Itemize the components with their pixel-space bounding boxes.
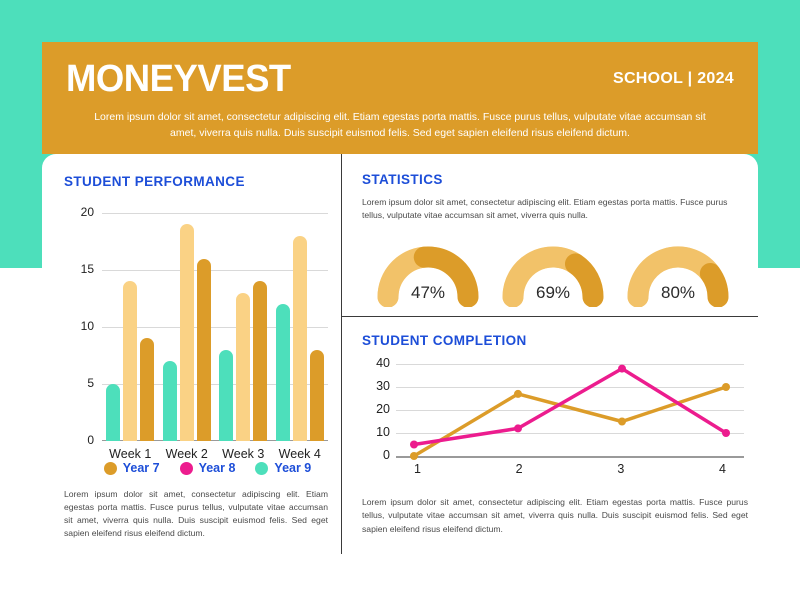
statistics-description: Lorem ipsum dolor sit amet, consectetur … bbox=[362, 196, 748, 223]
bar-group bbox=[106, 213, 154, 441]
bar-y-tick: 5 bbox=[87, 376, 94, 390]
gauge-percent-label: 47% bbox=[370, 283, 486, 303]
header-row: MONEYVEST SCHOOL | 2024 bbox=[66, 56, 734, 102]
bar-chart-y-axis: 05101520 bbox=[64, 213, 94, 441]
bar-x-tick: Week 2 bbox=[166, 447, 208, 461]
line-y-tick: 40 bbox=[376, 356, 390, 370]
line-x-tick: 4 bbox=[719, 462, 726, 476]
line-chart-svg bbox=[396, 364, 744, 456]
bar-group bbox=[219, 213, 267, 441]
legend-label: Year 7 bbox=[123, 461, 160, 475]
bar-chart: 05101520 Week 1Week 2Week 3Week 4 bbox=[64, 205, 332, 455]
bar-group bbox=[276, 213, 324, 441]
bar-groups bbox=[102, 213, 328, 441]
legend-item[interactable]: Year 7 bbox=[104, 461, 160, 475]
bar-chart-x-axis: Week 1Week 2Week 3Week 4 bbox=[102, 447, 328, 461]
line-x-tick: 3 bbox=[617, 462, 624, 476]
bar bbox=[310, 350, 324, 441]
line-chart-x-axis: 1234 bbox=[396, 462, 744, 476]
bar bbox=[180, 224, 194, 441]
line-gridline bbox=[396, 456, 744, 458]
gauge-group: 47%69%80% bbox=[362, 235, 740, 307]
student-completion-description: Lorem ipsum dolor sit amet, consectetur … bbox=[362, 496, 748, 536]
gauge: 47% bbox=[370, 235, 486, 307]
bar bbox=[163, 361, 177, 441]
line-chart-y-axis: 010203040 bbox=[362, 364, 390, 456]
bar bbox=[236, 293, 250, 441]
line-data-point bbox=[618, 418, 626, 426]
legend-label: Year 8 bbox=[199, 461, 236, 475]
bar-x-tick: Week 3 bbox=[222, 447, 264, 461]
student-completion-panel: STUDENT COMPLETION 010203040 1234 Lorem … bbox=[342, 317, 758, 554]
bar-y-tick: 20 bbox=[81, 205, 94, 219]
line-y-tick: 20 bbox=[376, 402, 390, 416]
legend-item[interactable]: Year 9 bbox=[255, 461, 311, 475]
student-performance-description: Lorem ipsum dolor sit amet, consectetur … bbox=[64, 488, 328, 540]
line-data-point bbox=[722, 383, 730, 391]
legend-dot-icon bbox=[255, 462, 268, 475]
line-data-point bbox=[410, 452, 418, 460]
brand-title: MONEYVEST bbox=[66, 60, 291, 98]
gauge-percent-label: 69% bbox=[495, 283, 611, 303]
line-data-point bbox=[514, 424, 522, 432]
bar-x-tick: Week 4 bbox=[279, 447, 321, 461]
line-y-tick: 0 bbox=[383, 448, 390, 462]
bar bbox=[197, 259, 211, 441]
bar-group bbox=[163, 213, 211, 441]
bar-x-tick: Week 1 bbox=[109, 447, 151, 461]
bar bbox=[140, 338, 154, 441]
student-performance-panel: STUDENT PERFORMANCE 05101520 Week 1Week … bbox=[42, 154, 341, 566]
gauge: 80% bbox=[620, 235, 736, 307]
legend-label: Year 9 bbox=[274, 461, 311, 475]
bar bbox=[219, 350, 233, 441]
line-chart-plot bbox=[396, 364, 744, 456]
page-header: MONEYVEST SCHOOL | 2024 Lorem ipsum dolo… bbox=[42, 42, 758, 154]
student-performance-title: STUDENT PERFORMANCE bbox=[64, 174, 341, 189]
line-y-tick: 10 bbox=[376, 425, 390, 439]
gauge-percent-label: 80% bbox=[620, 283, 736, 303]
teal-left-strip bbox=[0, 0, 42, 268]
bar-y-tick: 10 bbox=[81, 319, 94, 333]
bar-chart-legend: Year 7Year 8Year 9 bbox=[64, 461, 341, 475]
legend-dot-icon bbox=[180, 462, 193, 475]
line-data-point bbox=[618, 365, 626, 373]
bar-y-tick: 15 bbox=[81, 262, 94, 276]
line-x-tick: 2 bbox=[516, 462, 523, 476]
statistics-title: STATISTICS bbox=[362, 172, 740, 187]
bar bbox=[276, 304, 290, 441]
bar bbox=[106, 384, 120, 441]
bar bbox=[253, 281, 267, 441]
statistics-panel: STATISTICS Lorem ipsum dolor sit amet, c… bbox=[342, 154, 758, 316]
bar-y-tick: 0 bbox=[87, 433, 94, 447]
student-completion-title: STUDENT COMPLETION bbox=[362, 333, 740, 348]
bar bbox=[123, 281, 137, 441]
bar-chart-plot bbox=[102, 213, 328, 441]
header-description: Lorem ipsum dolor sit amet, consectetur … bbox=[66, 102, 734, 142]
legend-item[interactable]: Year 8 bbox=[180, 461, 236, 475]
gauge: 69% bbox=[495, 235, 611, 307]
line-chart: 010203040 1234 bbox=[362, 360, 748, 482]
bar bbox=[293, 236, 307, 441]
line-data-point bbox=[722, 429, 730, 437]
legend-dot-icon bbox=[104, 462, 117, 475]
line-y-tick: 30 bbox=[376, 379, 390, 393]
school-year-label: SCHOOL | 2024 bbox=[613, 70, 734, 88]
line-data-point bbox=[410, 441, 418, 449]
line-x-tick: 1 bbox=[414, 462, 421, 476]
line-data-point bbox=[514, 390, 522, 398]
